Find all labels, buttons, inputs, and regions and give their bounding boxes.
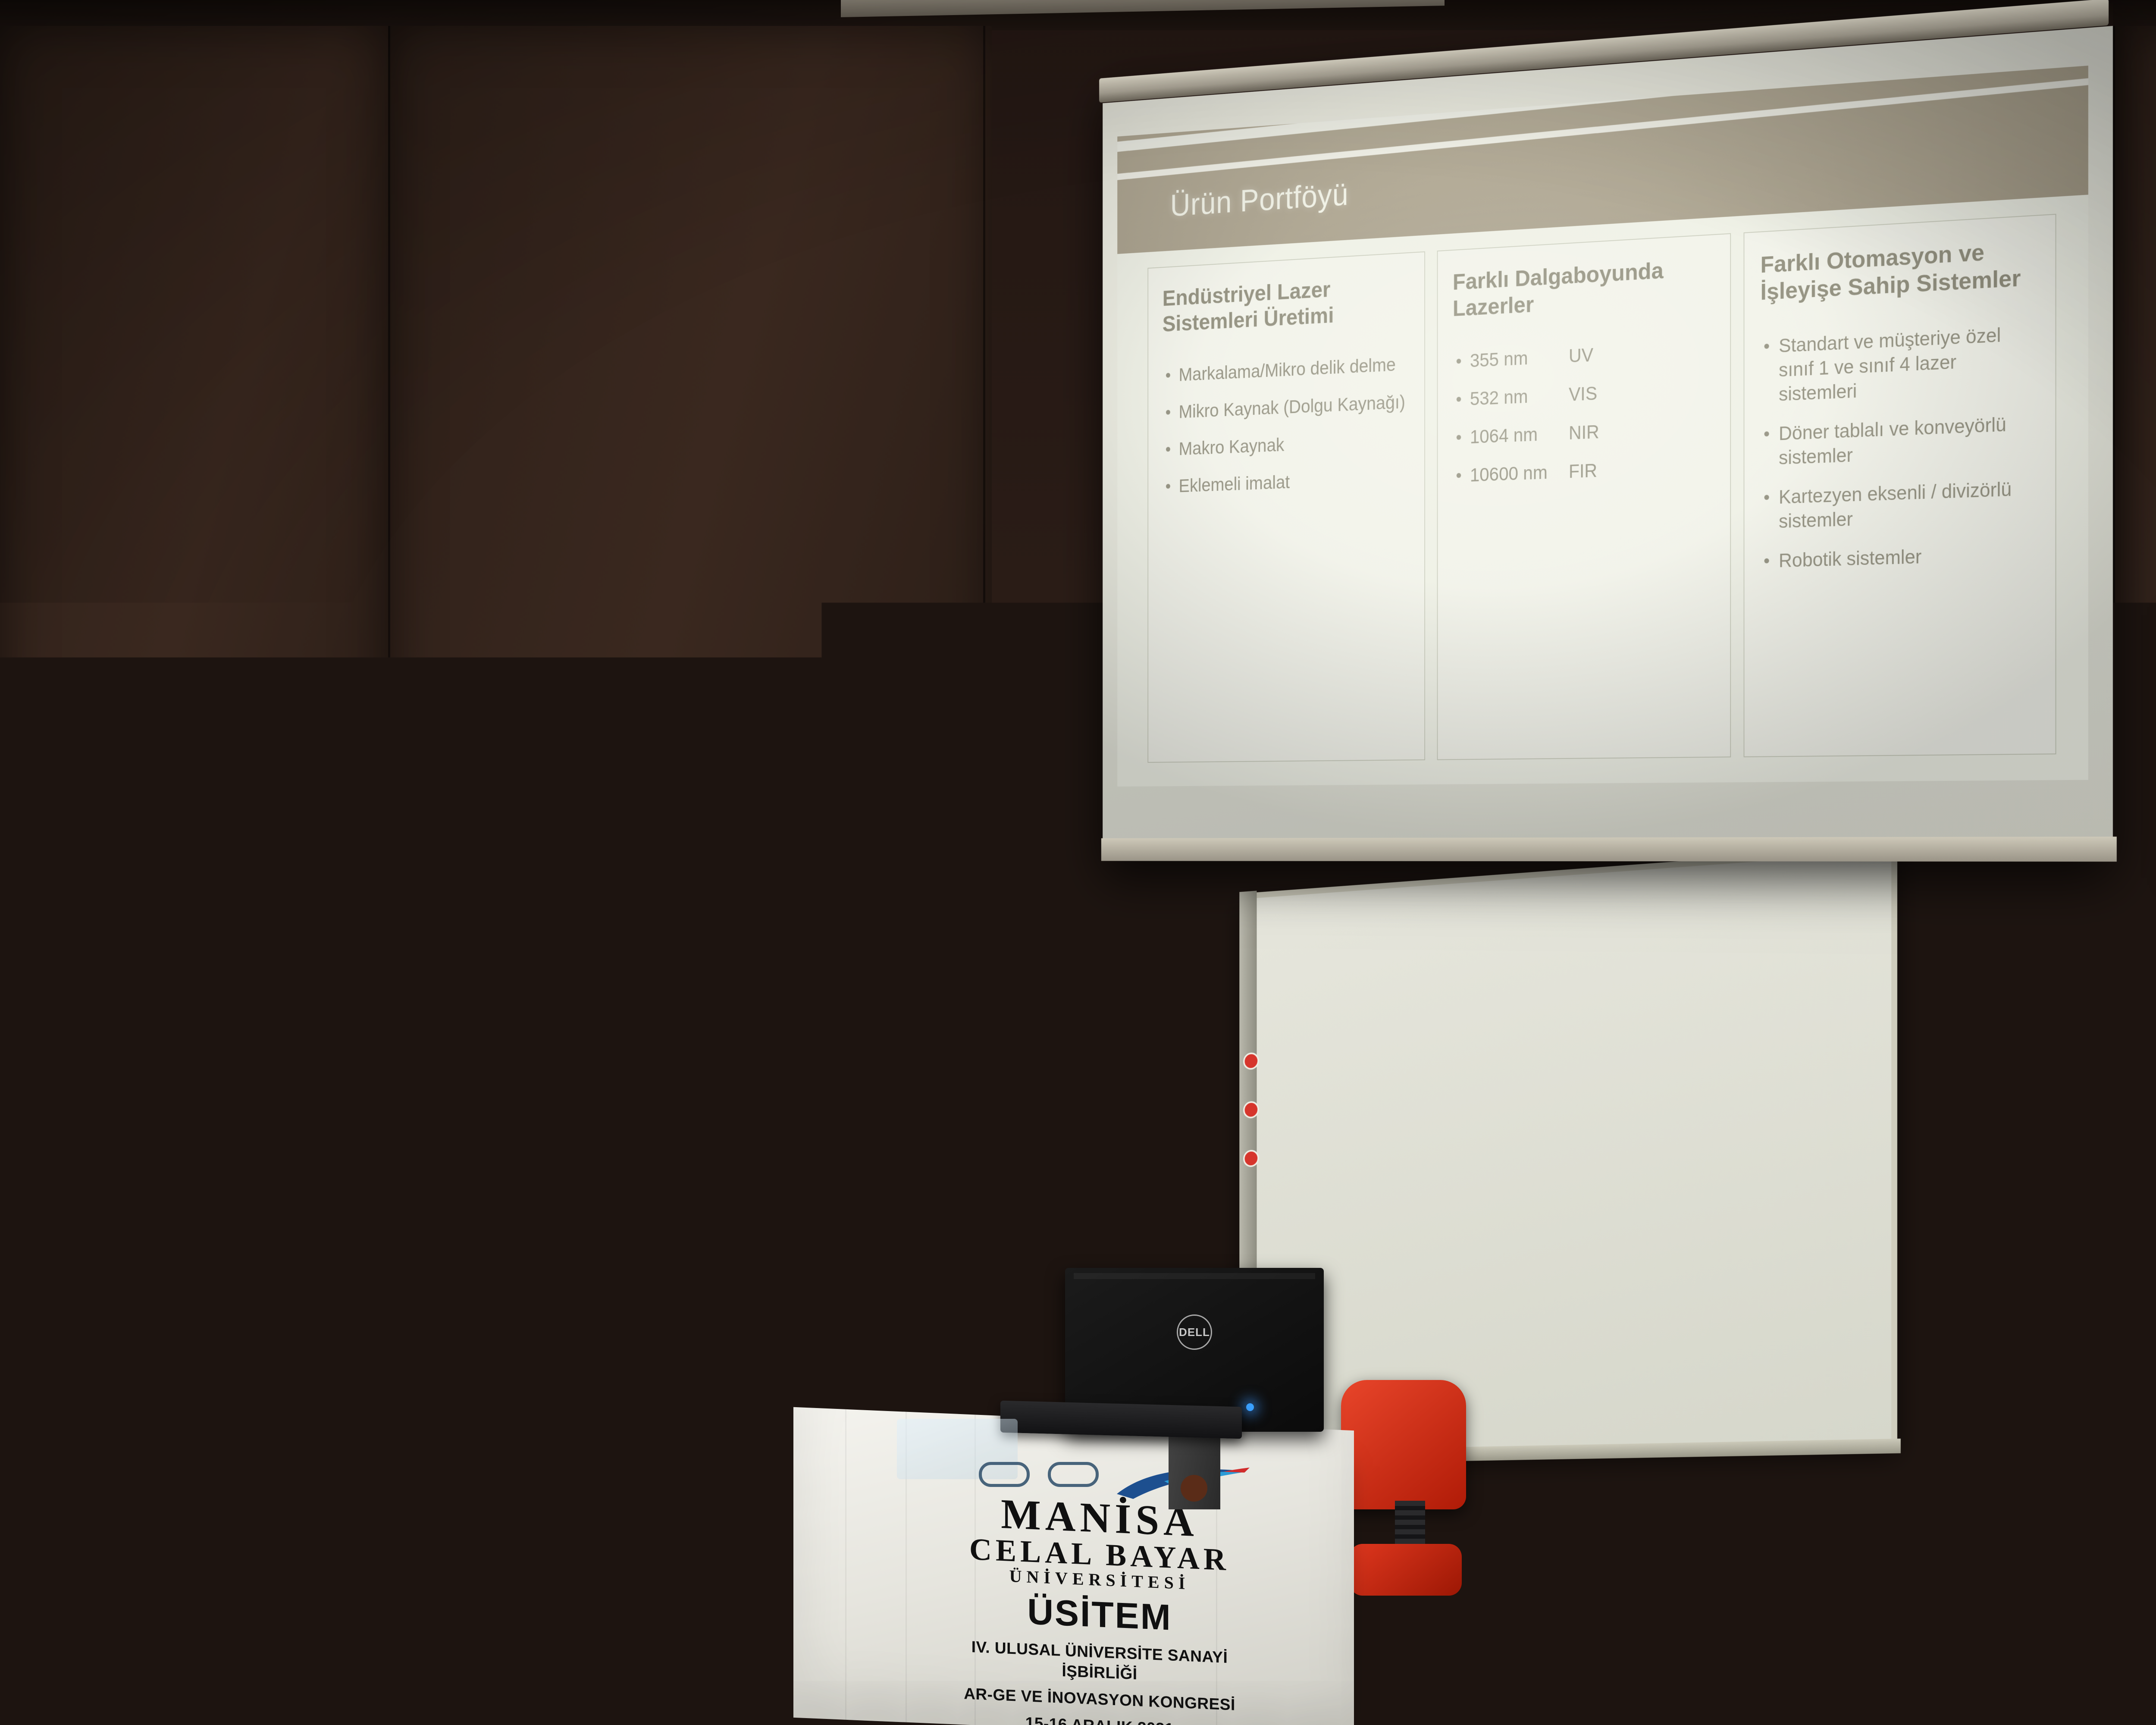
wavelength-band: UV	[1569, 343, 1593, 368]
presenter-clasped-hands	[511, 1341, 589, 1393]
coat-hook	[755, 1095, 806, 1119]
lecture-hall-photo: Ürün Portföyü Endüstriyel Lazer Sistemle…	[0, 0, 2156, 1725]
list-item: Markalama/Mikro delik delme	[1163, 352, 1410, 387]
presenter-trousers	[453, 1436, 642, 1630]
power-strip-socket-icon[interactable]	[1540, 1669, 1561, 1695]
presenter-face-mask	[511, 993, 588, 1053]
banner-congress-line-1: IV. ULUSAL ÜNİVERSİTE SANAYİ İŞBİRLİĞİ	[936, 1636, 1263, 1689]
list-item: Robotik sistemler	[1761, 541, 2039, 574]
wall-panel-right	[2113, 26, 2156, 1578]
power-strip-socket-icon[interactable]	[1595, 1664, 1617, 1690]
list-item: Makro Kaynak	[1163, 428, 1410, 461]
column-2-heading: Farklı Dalgaboyunda Lazerler	[1453, 254, 1714, 322]
coat-hook	[755, 1159, 806, 1184]
column-3-bullet-list: Standart ve müşteriye özel sınıf 1 ve sı…	[1761, 321, 2039, 573]
wavelength-band: FIR	[1569, 459, 1597, 484]
list-item: Döner tablalı ve konveyörlü sistemler	[1761, 411, 2039, 471]
wavelength-value: 355 nm	[1470, 344, 1569, 373]
list-item: Mikro Kaynak (Dolgu Kaynağı)	[1163, 390, 1410, 424]
wall-seam-2	[983, 26, 985, 1406]
banner-table: MANİSA CELAL BAYAR ÜNİVERSİTESİ ÜSİTEM I…	[793, 1407, 1354, 1725]
slide-body: Endüstriyel Lazer Sistemleri Üretimi Mar…	[1117, 194, 2088, 786]
water-bottle[interactable]	[1160, 1328, 1208, 1453]
slide-column-2: Farklı Dalgaboyunda Lazerler 355 nm UV	[1437, 233, 1731, 760]
coat-hook	[761, 1032, 809, 1062]
list-item: 532 nm VIS	[1453, 376, 1714, 411]
wavelength-value: 1064 nm	[1470, 421, 1569, 449]
eyeglass-lens-left	[979, 1462, 1030, 1487]
monitor-vent	[1074, 1273, 1315, 1279]
column-1-bullet-list: Markalama/Mikro delik delme Mikro Kaynak…	[1163, 352, 1410, 498]
projection-screen: Ürün Portföyü Endüstriyel Lazer Sistemle…	[1103, 3, 2113, 862]
list-item: Eklemeli imalat	[1163, 466, 1410, 498]
wall-panel-left	[0, 26, 388, 1363]
list-item: 1064 nm NIR	[1453, 415, 1714, 450]
column-2-wavelength-list: 355 nm UV 532 nm VIS	[1453, 337, 1714, 488]
column-3-heading: Farklı Otomasyon ve İşleyişe Sahip Siste…	[1761, 235, 2039, 306]
slide-column-1: Endüstriyel Lazer Sistemleri Üretimi Mar…	[1147, 251, 1425, 763]
wall-seam-3	[2113, 26, 2115, 1578]
banner-text-block: MANİSA CELAL BAYAR ÜNİVERSİTESİ ÜSİTEM I…	[936, 1491, 1263, 1725]
list-item: Kartezyen eksenli / divizörlü sistemler	[1761, 476, 2039, 534]
coat-hook-knob-icon	[750, 1033, 758, 1041]
coat-rack	[724, 996, 906, 1479]
coat-hook-knob-icon	[854, 1031, 862, 1038]
column-1-heading: Endüstriyel Lazer Sistemleri Üretimi	[1163, 272, 1410, 337]
paper-document-on-desk	[7, 1478, 153, 1545]
wavelength-band: NIR	[1569, 420, 1599, 445]
power-strip-socket-icon[interactable]	[1567, 1666, 1589, 1692]
monitor-power-led-icon	[1246, 1403, 1254, 1411]
chair-backrest	[1341, 1380, 1466, 1509]
coat-hook-knob-icon	[745, 1094, 753, 1101]
water-glass[interactable]	[0, 1371, 39, 1436]
eyeglass-lens-right	[1048, 1462, 1099, 1487]
office-chair[interactable]	[1332, 1380, 1488, 1621]
presenter-lanyard	[517, 1061, 581, 1203]
hanging-handbag	[867, 1324, 931, 1389]
slide-column-3: Farklı Otomasyon ve İşleyişe Sahip Siste…	[1744, 214, 2056, 757]
list-item: 10600 nm FIR	[1453, 454, 1714, 488]
list-item: Standart ve müşteriye özel sınıf 1 ve sı…	[1761, 321, 2039, 407]
bottle-cap[interactable]	[1166, 1317, 1202, 1332]
monitor-stand-cable-hole	[1181, 1475, 1207, 1502]
presenter-hair	[504, 948, 592, 995]
chair-seat	[1350, 1544, 1462, 1596]
screen-bottom-weight-bar	[1101, 837, 2117, 862]
coat-hook-knob-icon	[743, 1158, 751, 1166]
presentation-slide: Ürün Portföyü Endüstriyel Lazer Sistemle…	[1117, 66, 2088, 787]
wavelength-value: 532 nm	[1470, 383, 1569, 411]
wavelength-band: VIS	[1569, 382, 1597, 407]
presenter-person	[401, 940, 703, 1630]
wall-seam-1	[388, 26, 390, 1363]
banner-center-name: ÜSİTEM	[936, 1587, 1263, 1643]
wavelength-value: 10600 nm	[1470, 460, 1569, 487]
list-item: 355 nm UV	[1453, 337, 1714, 374]
screen-surface: Ürün Portföyü Endüstriyel Lazer Sistemle…	[1103, 26, 2113, 838]
eyeglasses	[979, 1462, 1112, 1489]
whiteboard	[1241, 845, 1897, 1457]
coat-hook-knob-icon	[805, 1027, 812, 1035]
